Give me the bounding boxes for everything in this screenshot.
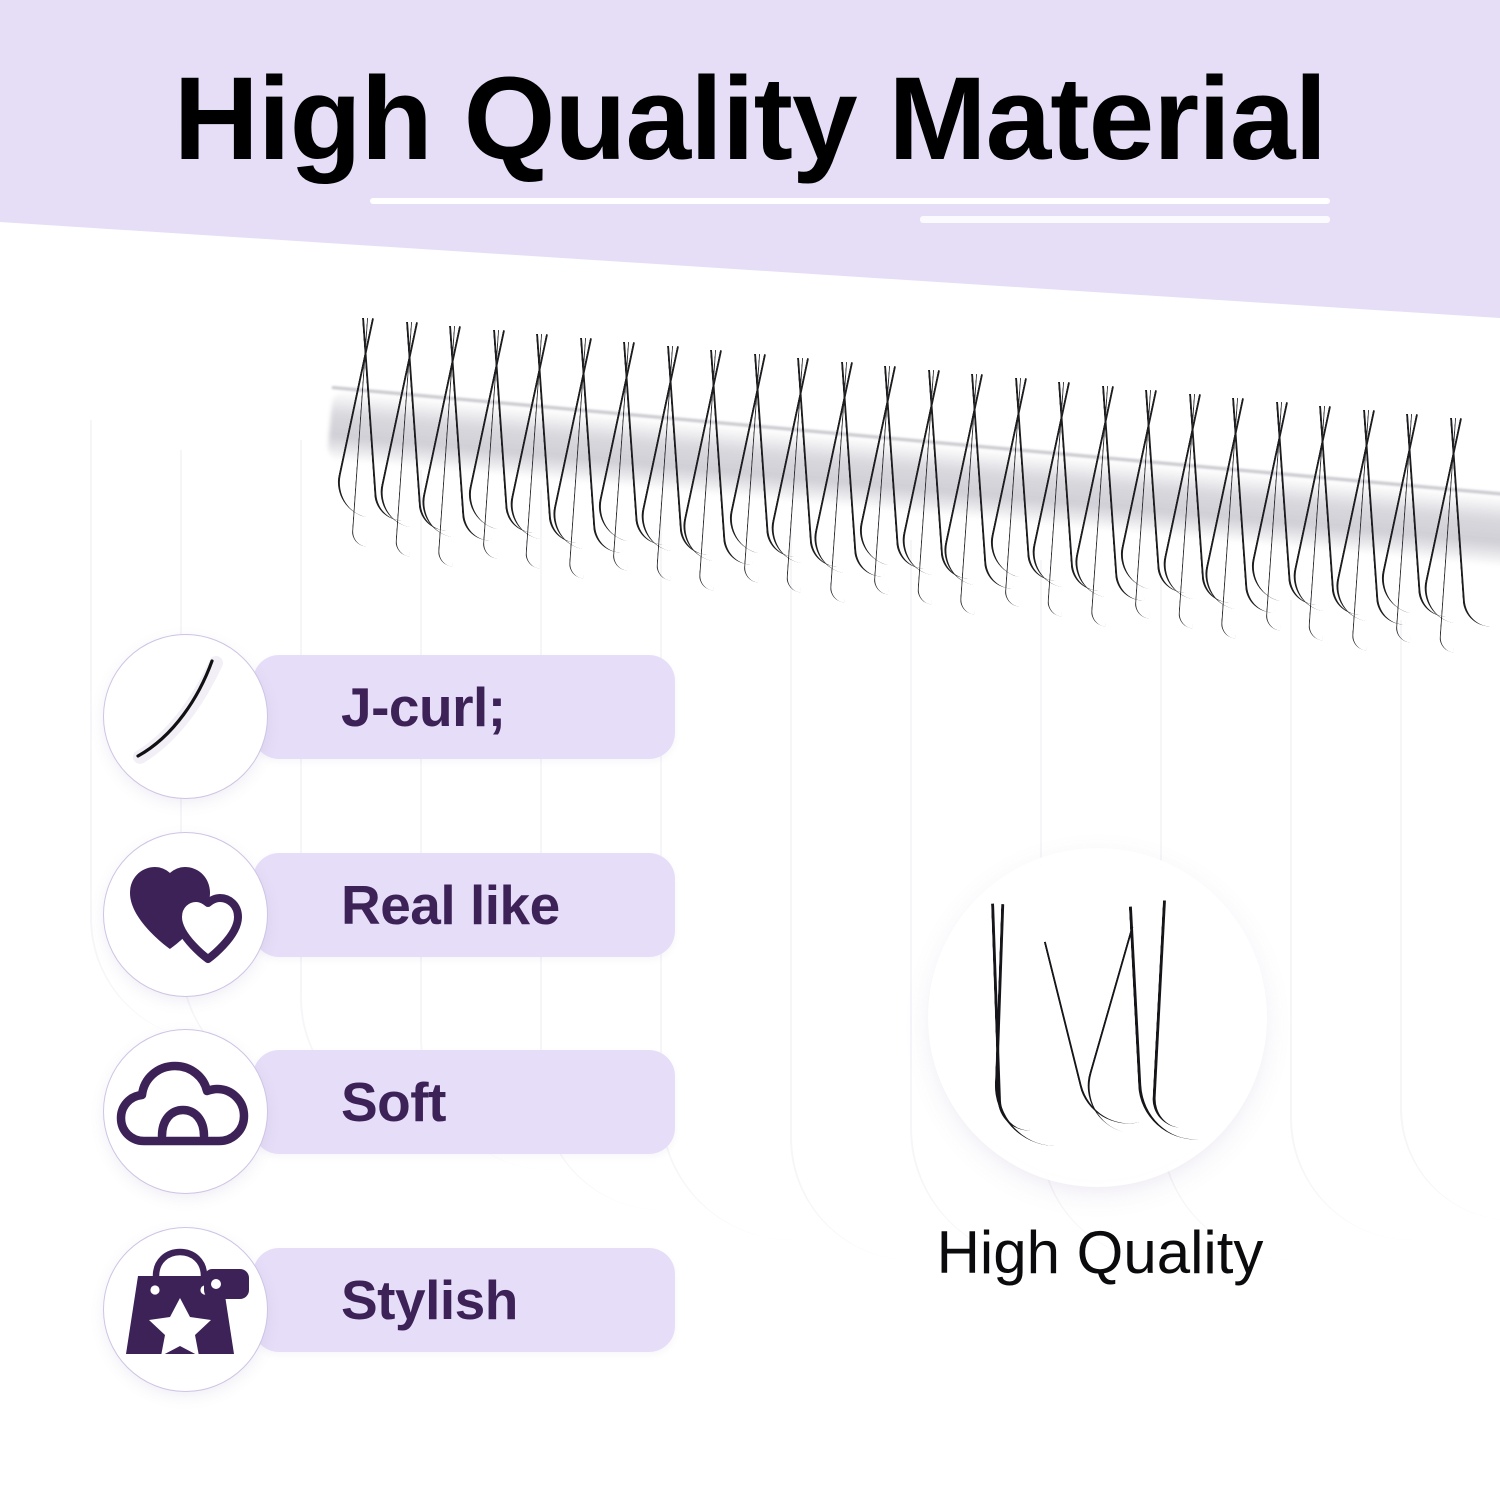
title-underline-long	[370, 198, 1330, 204]
feature-label: J-curl;	[341, 655, 506, 759]
infographic-canvas: High Quality Material J-curl; Real like	[0, 0, 1500, 1500]
lash-fiber-zoom-callout	[935, 855, 1260, 1180]
feature-label: Real like	[341, 853, 560, 957]
feature-label: Soft	[341, 1050, 446, 1154]
feature-icon-circle	[103, 832, 268, 997]
feature-label: Stylish	[341, 1248, 518, 1352]
magnifier-caption: High Quality	[840, 1218, 1360, 1287]
feature-icon-circle	[103, 1227, 268, 1392]
feature-icon-circle	[103, 1029, 268, 1194]
feature-pill	[253, 1050, 675, 1154]
page-title: High Quality Material	[0, 60, 1500, 178]
title-underline-short	[920, 216, 1330, 223]
feature-icon-circle	[103, 634, 268, 799]
